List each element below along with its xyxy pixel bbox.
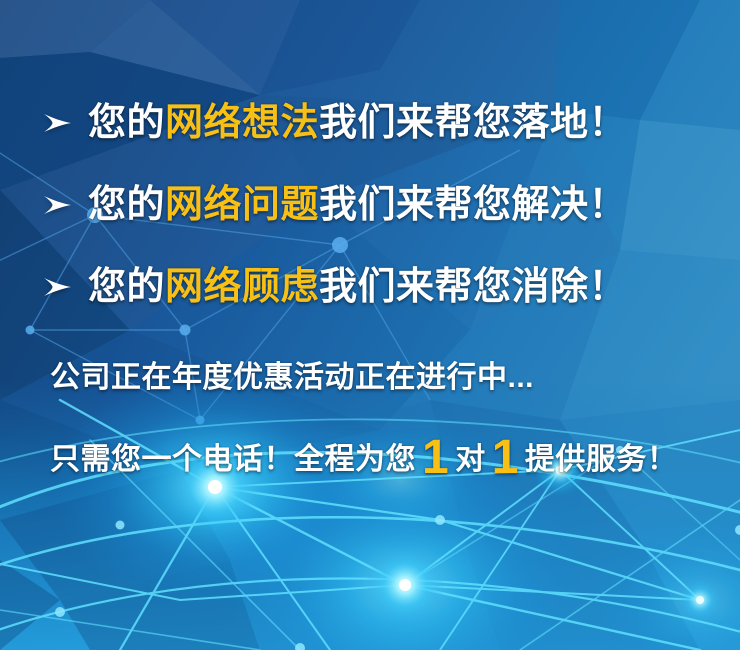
headline-lead-2: 您的 — [88, 184, 165, 226]
headline-tail-2: 我们来帮您解决！ — [319, 184, 627, 226]
promo-banner: 您的网络想法我们来帮您落地！ 您的网络问题我们来帮您解决！ 您的网络顾虑我们来帮… — [0, 0, 740, 650]
headline-highlight-2: 网络问题 — [165, 184, 319, 226]
headline-text-2: 您的网络问题我们来帮您解决！ — [88, 186, 627, 224]
cta-number-2: 1 — [486, 434, 525, 482]
cta-part-1: 只需您一个电话！全程为您 — [50, 445, 416, 475]
headline-row-1: 您的网络想法我们来帮您落地！ — [40, 104, 627, 142]
promo-text: 公司正在年度优惠活动正在进行中... — [50, 363, 534, 393]
cta-number-1: 1 — [416, 434, 455, 482]
headline-highlight-3: 网络顾虑 — [165, 266, 319, 308]
headline-tail-3: 我们来帮您消除！ — [319, 266, 627, 308]
headline-row-3: 您的网络顾虑我们来帮您消除！ — [40, 268, 627, 306]
headline-tail-1: 我们来帮您落地！ — [319, 102, 627, 144]
cta-part-2: 提供服务！ — [525, 445, 678, 475]
call-to-action-text: 只需您一个电话！全程为您 1 对 1 提供服务！ — [50, 430, 677, 478]
headline-lead-3: 您的 — [88, 266, 165, 308]
headline-text-3: 您的网络顾虑我们来帮您消除！ — [88, 268, 627, 306]
arrow-right-triangle-icon — [40, 270, 74, 304]
headline-highlight-1: 网络想法 — [165, 102, 319, 144]
headline-lead-1: 您的 — [88, 102, 165, 144]
arrow-right-triangle-icon — [40, 106, 74, 140]
headline-row-2: 您的网络问题我们来帮您解决！ — [40, 186, 627, 224]
cta-mid: 对 — [455, 445, 486, 475]
banner-content: 您的网络想法我们来帮您落地！ 您的网络问题我们来帮您解决！ 您的网络顾虑我们来帮… — [0, 0, 740, 650]
arrow-right-triangle-icon — [40, 188, 74, 222]
headline-text-1: 您的网络想法我们来帮您落地！ — [88, 104, 627, 142]
